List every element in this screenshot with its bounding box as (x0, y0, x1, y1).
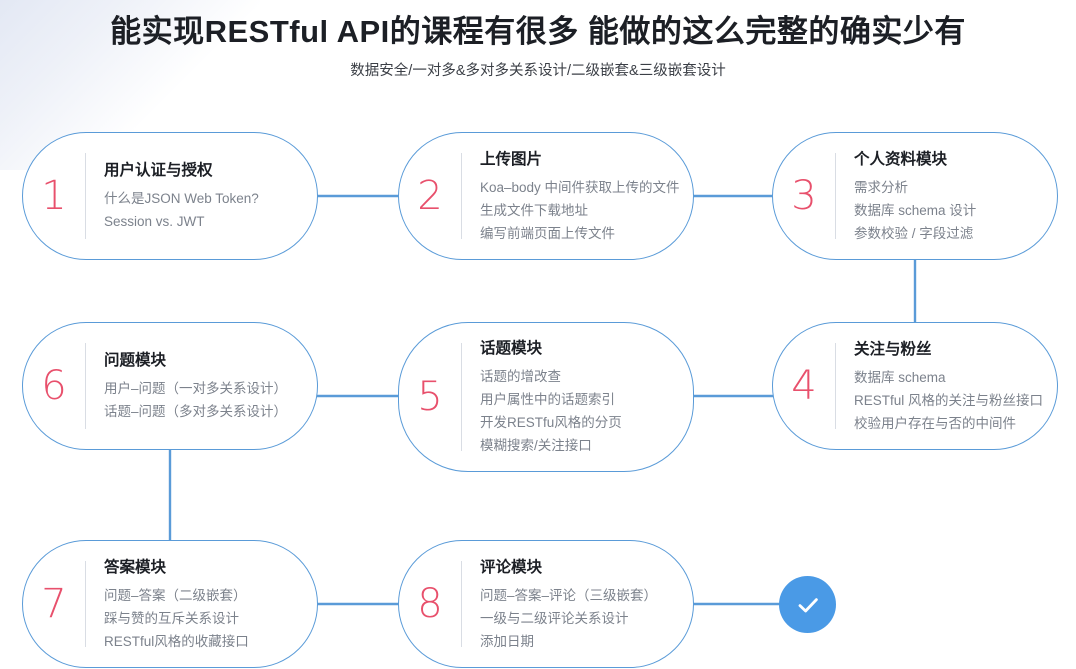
card-line: Session vs. JWT (104, 210, 303, 233)
card-body: 用户认证与授权 什么是JSON Web Token? Session vs. J… (86, 159, 317, 233)
card-number: 4 (773, 366, 835, 406)
card-number: 3 (773, 176, 835, 216)
card-line: 数据库 schema (854, 366, 1043, 389)
card-title: 用户认证与授权 (104, 159, 303, 183)
card-title: 话题模块 (480, 337, 679, 361)
card-line: 数据库 schema 设计 (854, 199, 1043, 222)
card-body: 上传图片 Koa–body 中间件获取上传的文件 生成文件下载地址 编写前端页面… (462, 148, 693, 245)
card-line: 话题的增改查 (480, 365, 679, 388)
header: 能实现RESTful API的课程有很多 能做的这么完整的确实少有 数据安全/一… (0, 10, 1076, 82)
completion-badge[interactable] (779, 576, 836, 633)
card-line: 踩与赞的互斥关系设计 (104, 607, 303, 630)
card-body: 问题模块 用户–问题（一对多关系设计） 话题–问题（多对多关系设计） (86, 349, 317, 423)
page-subtitle: 数据安全/一对多&多对多关系设计/二级嵌套&三级嵌套设计 (0, 60, 1076, 82)
card-line: 开发RESTfu风格的分页 (480, 411, 679, 434)
card-line: 问题–答案（二级嵌套） (104, 584, 303, 607)
card-body: 关注与粉丝 数据库 schema RESTful 风格的关注与粉丝接口 校验用户… (836, 338, 1057, 435)
card-title: 个人资料模块 (854, 148, 1043, 172)
card-line: 用户属性中的话题索引 (480, 388, 679, 411)
card-number: 2 (399, 176, 461, 216)
card-title: 评论模块 (480, 556, 679, 580)
card-line: 一级与二级评论关系设计 (480, 607, 679, 630)
card-line: 用户–问题（一对多关系设计） (104, 377, 303, 400)
card-line: RESTful 风格的关注与粉丝接口 (854, 389, 1043, 412)
card-line: 编写前端页面上传文件 (480, 222, 679, 245)
flow-diagram: 能实现RESTful API的课程有很多 能做的这么完整的确实少有 数据安全/一… (0, 0, 1076, 669)
card-title: 关注与粉丝 (854, 338, 1043, 362)
card-number: 8 (399, 584, 461, 624)
flow-card-3[interactable]: 3 个人资料模块 需求分析 数据库 schema 设计 参数校验 / 字段过滤 (772, 132, 1058, 260)
flow-card-2[interactable]: 2 上传图片 Koa–body 中间件获取上传的文件 生成文件下载地址 编写前端… (398, 132, 694, 260)
card-title: 上传图片 (480, 148, 679, 172)
card-line: 需求分析 (854, 176, 1043, 199)
card-title: 答案模块 (104, 556, 303, 580)
flow-card-5[interactable]: 5 话题模块 话题的增改查 用户属性中的话题索引 开发RESTfu风格的分页 模… (398, 322, 694, 472)
card-line: 模糊搜索/关注接口 (480, 434, 679, 457)
flow-card-7[interactable]: 7 答案模块 问题–答案（二级嵌套） 踩与赞的互斥关系设计 RESTful风格的… (22, 540, 318, 668)
card-line: 生成文件下载地址 (480, 199, 679, 222)
card-number: 1 (23, 176, 85, 216)
card-number: 6 (23, 366, 85, 406)
card-body: 评论模块 问题–答案–评论（三级嵌套） 一级与二级评论关系设计 添加日期 (462, 556, 693, 653)
page-title: 能实现RESTful API的课程有很多 能做的这么完整的确实少有 (0, 10, 1076, 54)
flow-card-1[interactable]: 1 用户认证与授权 什么是JSON Web Token? Session vs.… (22, 132, 318, 260)
card-line: 什么是JSON Web Token? (104, 187, 303, 210)
card-body: 个人资料模块 需求分析 数据库 schema 设计 参数校验 / 字段过滤 (836, 148, 1057, 245)
card-title: 问题模块 (104, 349, 303, 373)
card-line: 添加日期 (480, 630, 679, 653)
flow-card-8[interactable]: 8 评论模块 问题–答案–评论（三级嵌套） 一级与二级评论关系设计 添加日期 (398, 540, 694, 668)
card-line: 话题–问题（多对多关系设计） (104, 400, 303, 423)
check-icon (792, 589, 824, 621)
card-line: 问题–答案–评论（三级嵌套） (480, 584, 679, 607)
card-number: 7 (23, 584, 85, 624)
card-body: 答案模块 问题–答案（二级嵌套） 踩与赞的互斥关系设计 RESTful风格的收藏… (86, 556, 317, 653)
card-line: 参数校验 / 字段过滤 (854, 222, 1043, 245)
card-body: 话题模块 话题的增改查 用户属性中的话题索引 开发RESTfu风格的分页 模糊搜… (462, 337, 693, 457)
card-line: RESTful风格的收藏接口 (104, 630, 303, 653)
card-number: 5 (399, 377, 461, 417)
card-line: Koa–body 中间件获取上传的文件 (480, 176, 679, 199)
flow-card-4[interactable]: 4 关注与粉丝 数据库 schema RESTful 风格的关注与粉丝接口 校验… (772, 322, 1058, 450)
card-line: 校验用户存在与否的中间件 (854, 412, 1043, 435)
flow-card-6[interactable]: 6 问题模块 用户–问题（一对多关系设计） 话题–问题（多对多关系设计） (22, 322, 318, 450)
